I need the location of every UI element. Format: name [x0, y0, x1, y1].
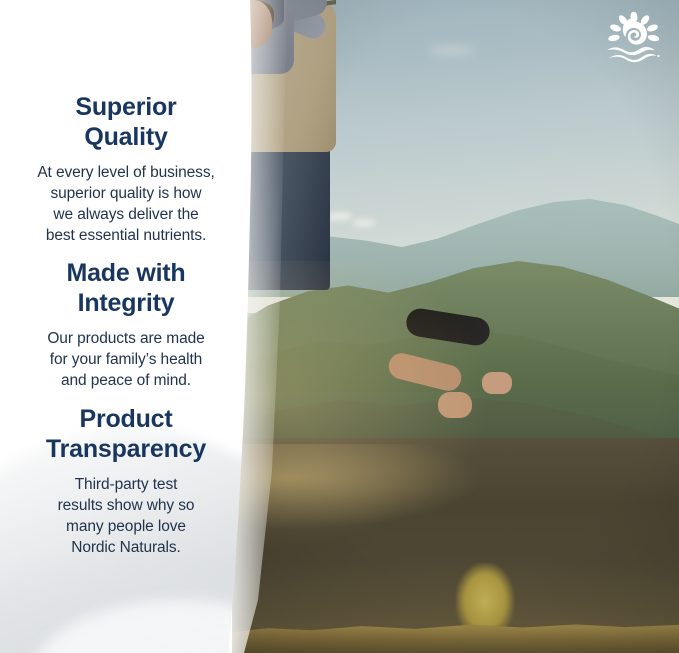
ground-sunlight: [232, 444, 482, 530]
value-body: Our products are made for your family’s …: [16, 328, 236, 391]
foreground-ground: [232, 438, 679, 653]
body-line: many people love: [16, 516, 236, 537]
headline-line: Integrity: [16, 288, 236, 318]
value-body: Third-party test results show why so man…: [16, 474, 236, 558]
headline-line: Superior: [16, 92, 236, 122]
body-line: superior quality is how: [16, 183, 236, 204]
value-block-superior-quality: Superior Quality At every level of busin…: [0, 92, 252, 246]
body-line: results show why so: [16, 495, 236, 516]
body-line: Nordic Naturals.: [16, 537, 236, 558]
headline-line: Made with: [16, 258, 236, 288]
body-line: and peace of mind.: [16, 370, 236, 391]
body-line: best essential nutrients.: [16, 225, 236, 246]
value-block-product-transparency: Product Transparency Third-party test re…: [0, 404, 252, 558]
family-on-mountain-ridge-photo: [232, 0, 679, 653]
value-headline: Made with Integrity: [16, 258, 236, 318]
value-block-made-with-integrity: Made with Integrity Our products are mad…: [0, 258, 252, 391]
value-headline: Product Transparency: [16, 404, 236, 464]
father-hand: [438, 392, 472, 418]
photo-scene: [232, 0, 679, 653]
headline-line: Product: [16, 404, 236, 434]
nordic-naturals-sun-waves-logo: [603, 12, 665, 66]
cloud-wisp: [429, 46, 475, 55]
dry-shrub: [456, 563, 514, 627]
value-propositions: Superior Quality At every level of busin…: [0, 0, 252, 653]
body-line: for your family’s health: [16, 349, 236, 370]
mother-hand: [482, 372, 512, 394]
value-body: At every level of business, superior qua…: [16, 162, 236, 246]
body-line: we always deliver the: [16, 204, 236, 225]
promo-banner: Superior Quality At every level of busin…: [0, 0, 679, 653]
value-headline: Superior Quality: [16, 92, 236, 152]
body-line: At every level of business,: [16, 162, 236, 183]
headline-line: Quality: [16, 122, 236, 152]
headline-line: Transparency: [16, 434, 236, 464]
body-line: Third-party test: [16, 474, 236, 495]
body-line: Our products are made: [16, 328, 236, 349]
